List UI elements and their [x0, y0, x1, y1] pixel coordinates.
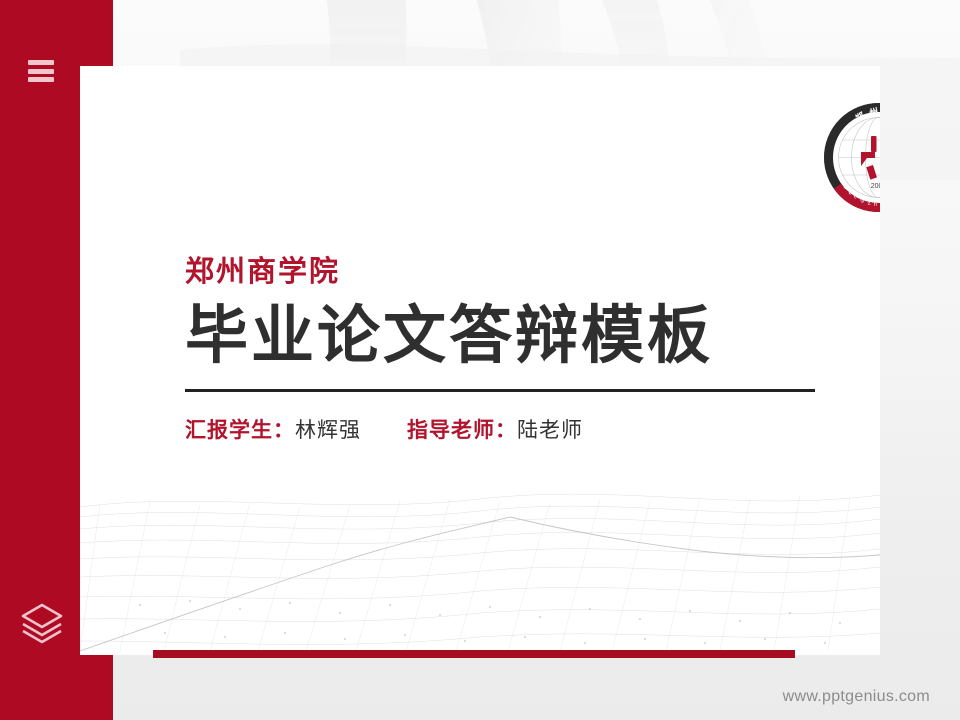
university-seal-logo: 2004 郑 州 商 院 Z h e n g z h o u B	[821, 100, 880, 215]
seal-year: 2004	[871, 183, 880, 190]
student-label: 汇报学生：	[185, 418, 295, 442]
hamburger-line	[28, 77, 54, 82]
content-card: 2004 郑 州 商 院 Z h e n g z h o u B	[80, 66, 880, 655]
page-title: 毕业论文答辩模板	[185, 302, 825, 370]
title-block: 郑州商学院 毕业论文答辩模板 汇报学生：林辉强指导老师：陆老师	[185, 256, 825, 443]
hamburger-line	[28, 60, 54, 65]
hamburger-menu-icon[interactable]	[28, 60, 54, 82]
presentation-slide: 2004 郑 州 商 院 Z h e n g z h o u B	[0, 0, 960, 720]
bottom-accent-bar	[153, 650, 795, 658]
wireframe-mesh-decoration	[80, 455, 880, 655]
institution-name: 郑州商学院	[185, 256, 825, 288]
footer-website-url[interactable]: www.pptgenius.com	[783, 688, 930, 706]
svg-text:h: h	[874, 202, 878, 208]
advisor-name: 陆老师	[517, 418, 583, 442]
presenter-meta: 汇报学生：林辉强指导老师：陆老师	[185, 418, 825, 443]
hamburger-line	[28, 69, 54, 74]
title-divider	[185, 389, 815, 392]
layers-stack-icon[interactable]	[18, 598, 66, 646]
advisor-label: 指导老师：	[407, 418, 517, 442]
student-name: 林辉强	[295, 418, 361, 442]
